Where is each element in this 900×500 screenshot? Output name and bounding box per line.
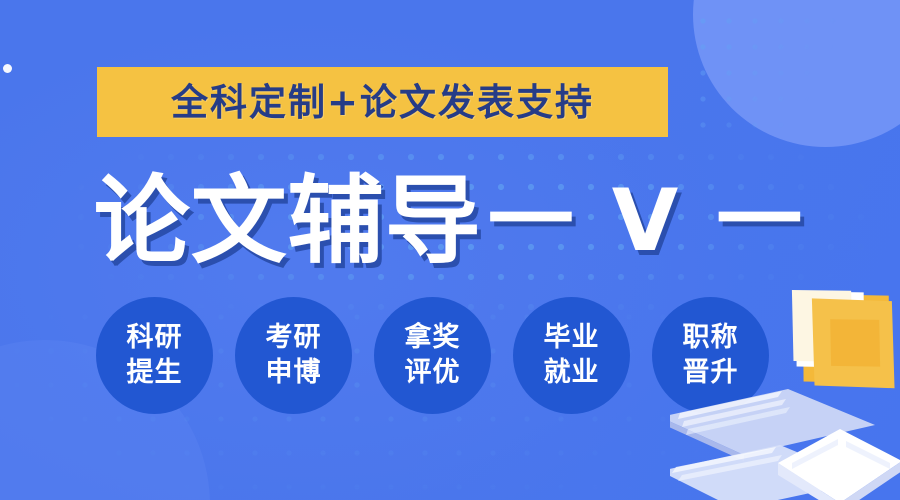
badge-line-2: 评优 — [405, 356, 461, 391]
badge-line-2: 申博 — [266, 356, 322, 391]
badge-line-2: 就业 — [544, 356, 600, 391]
badge-line-1: 毕业 — [544, 321, 600, 356]
badge-line-1: 科研 — [127, 321, 183, 356]
headline-main-text: 论文辅导 — [94, 173, 482, 269]
badge-line-1: 拿奖 — [405, 321, 461, 356]
subtitle-banner-text: 全科定制+论文发表支持 — [171, 84, 594, 121]
badge-postgrad[interactable]: 考研 申博 — [235, 297, 352, 414]
badge-line-2: 提生 — [127, 356, 183, 391]
poster-canvas: 全科定制+论文发表支持 论文辅导 一 V 一 科研 提生 考研 申博 拿奖 评优… — [0, 0, 900, 500]
headline: 论文辅导 一 V 一 — [0, 163, 900, 278]
badge-line-1: 考研 — [266, 321, 322, 356]
headline-sub-text: 一 V 一 — [488, 178, 806, 264]
subtitle-banner: 全科定制+论文发表支持 — [97, 67, 668, 137]
white-dot-decoration — [3, 64, 12, 73]
badge-row: 科研 提生 考研 申博 拿奖 评优 毕业 就业 职称 晋升 — [0, 297, 900, 414]
badge-line-2: 晋升 — [683, 356, 739, 391]
badge-line-1: 职称 — [683, 321, 739, 356]
badge-awards[interactable]: 拿奖 评优 — [374, 297, 491, 414]
badge-promotion[interactable]: 职称 晋升 — [652, 297, 769, 414]
badge-graduation[interactable]: 毕业 就业 — [513, 297, 630, 414]
badge-research[interactable]: 科研 提生 — [96, 297, 213, 414]
halftone-dots-top-right — [690, 8, 860, 128]
